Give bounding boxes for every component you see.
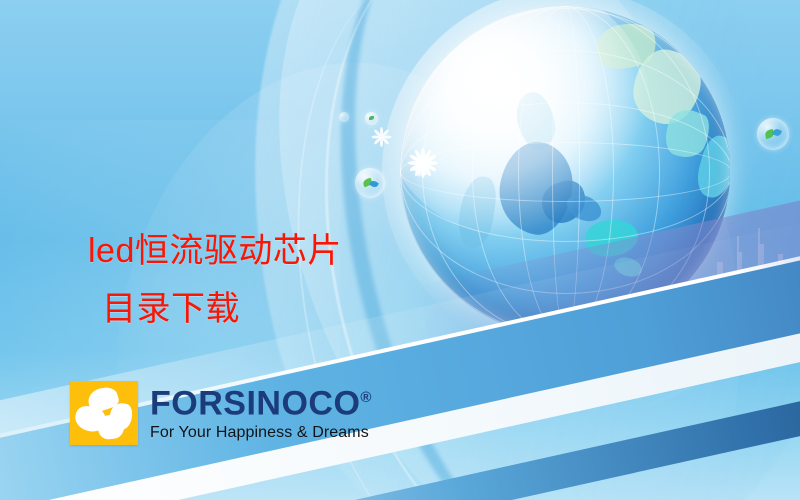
starburst-flower (370, 126, 392, 148)
logo-text-block: FORSINOCO® For Your Happiness & Dreams (150, 381, 372, 443)
brand-logo[interactable]: FORSINOCO® For Your Happiness & Dreams (70, 381, 372, 445)
headline-line-2: 目录下载 (88, 280, 508, 338)
brand-name-text: FORSINOCO (150, 384, 360, 422)
soap-bubble (365, 112, 378, 125)
page-title: led恒流驱动芯片 目录下载 (88, 164, 508, 396)
banner-canvas: led恒流驱动芯片 目录下载 FORSINOCO® For Your Happi… (0, 0, 800, 500)
soap-bubble (339, 112, 349, 122)
brand-name: FORSINOCO® (150, 381, 372, 420)
headline-line-1: led恒流驱动芯片 (88, 232, 342, 270)
brand-tagline: For Your Happiness & Dreams (150, 423, 372, 443)
soap-bubble (757, 118, 789, 150)
logo-mark-icon (70, 381, 138, 445)
registered-trademark-icon: ® (360, 389, 372, 406)
